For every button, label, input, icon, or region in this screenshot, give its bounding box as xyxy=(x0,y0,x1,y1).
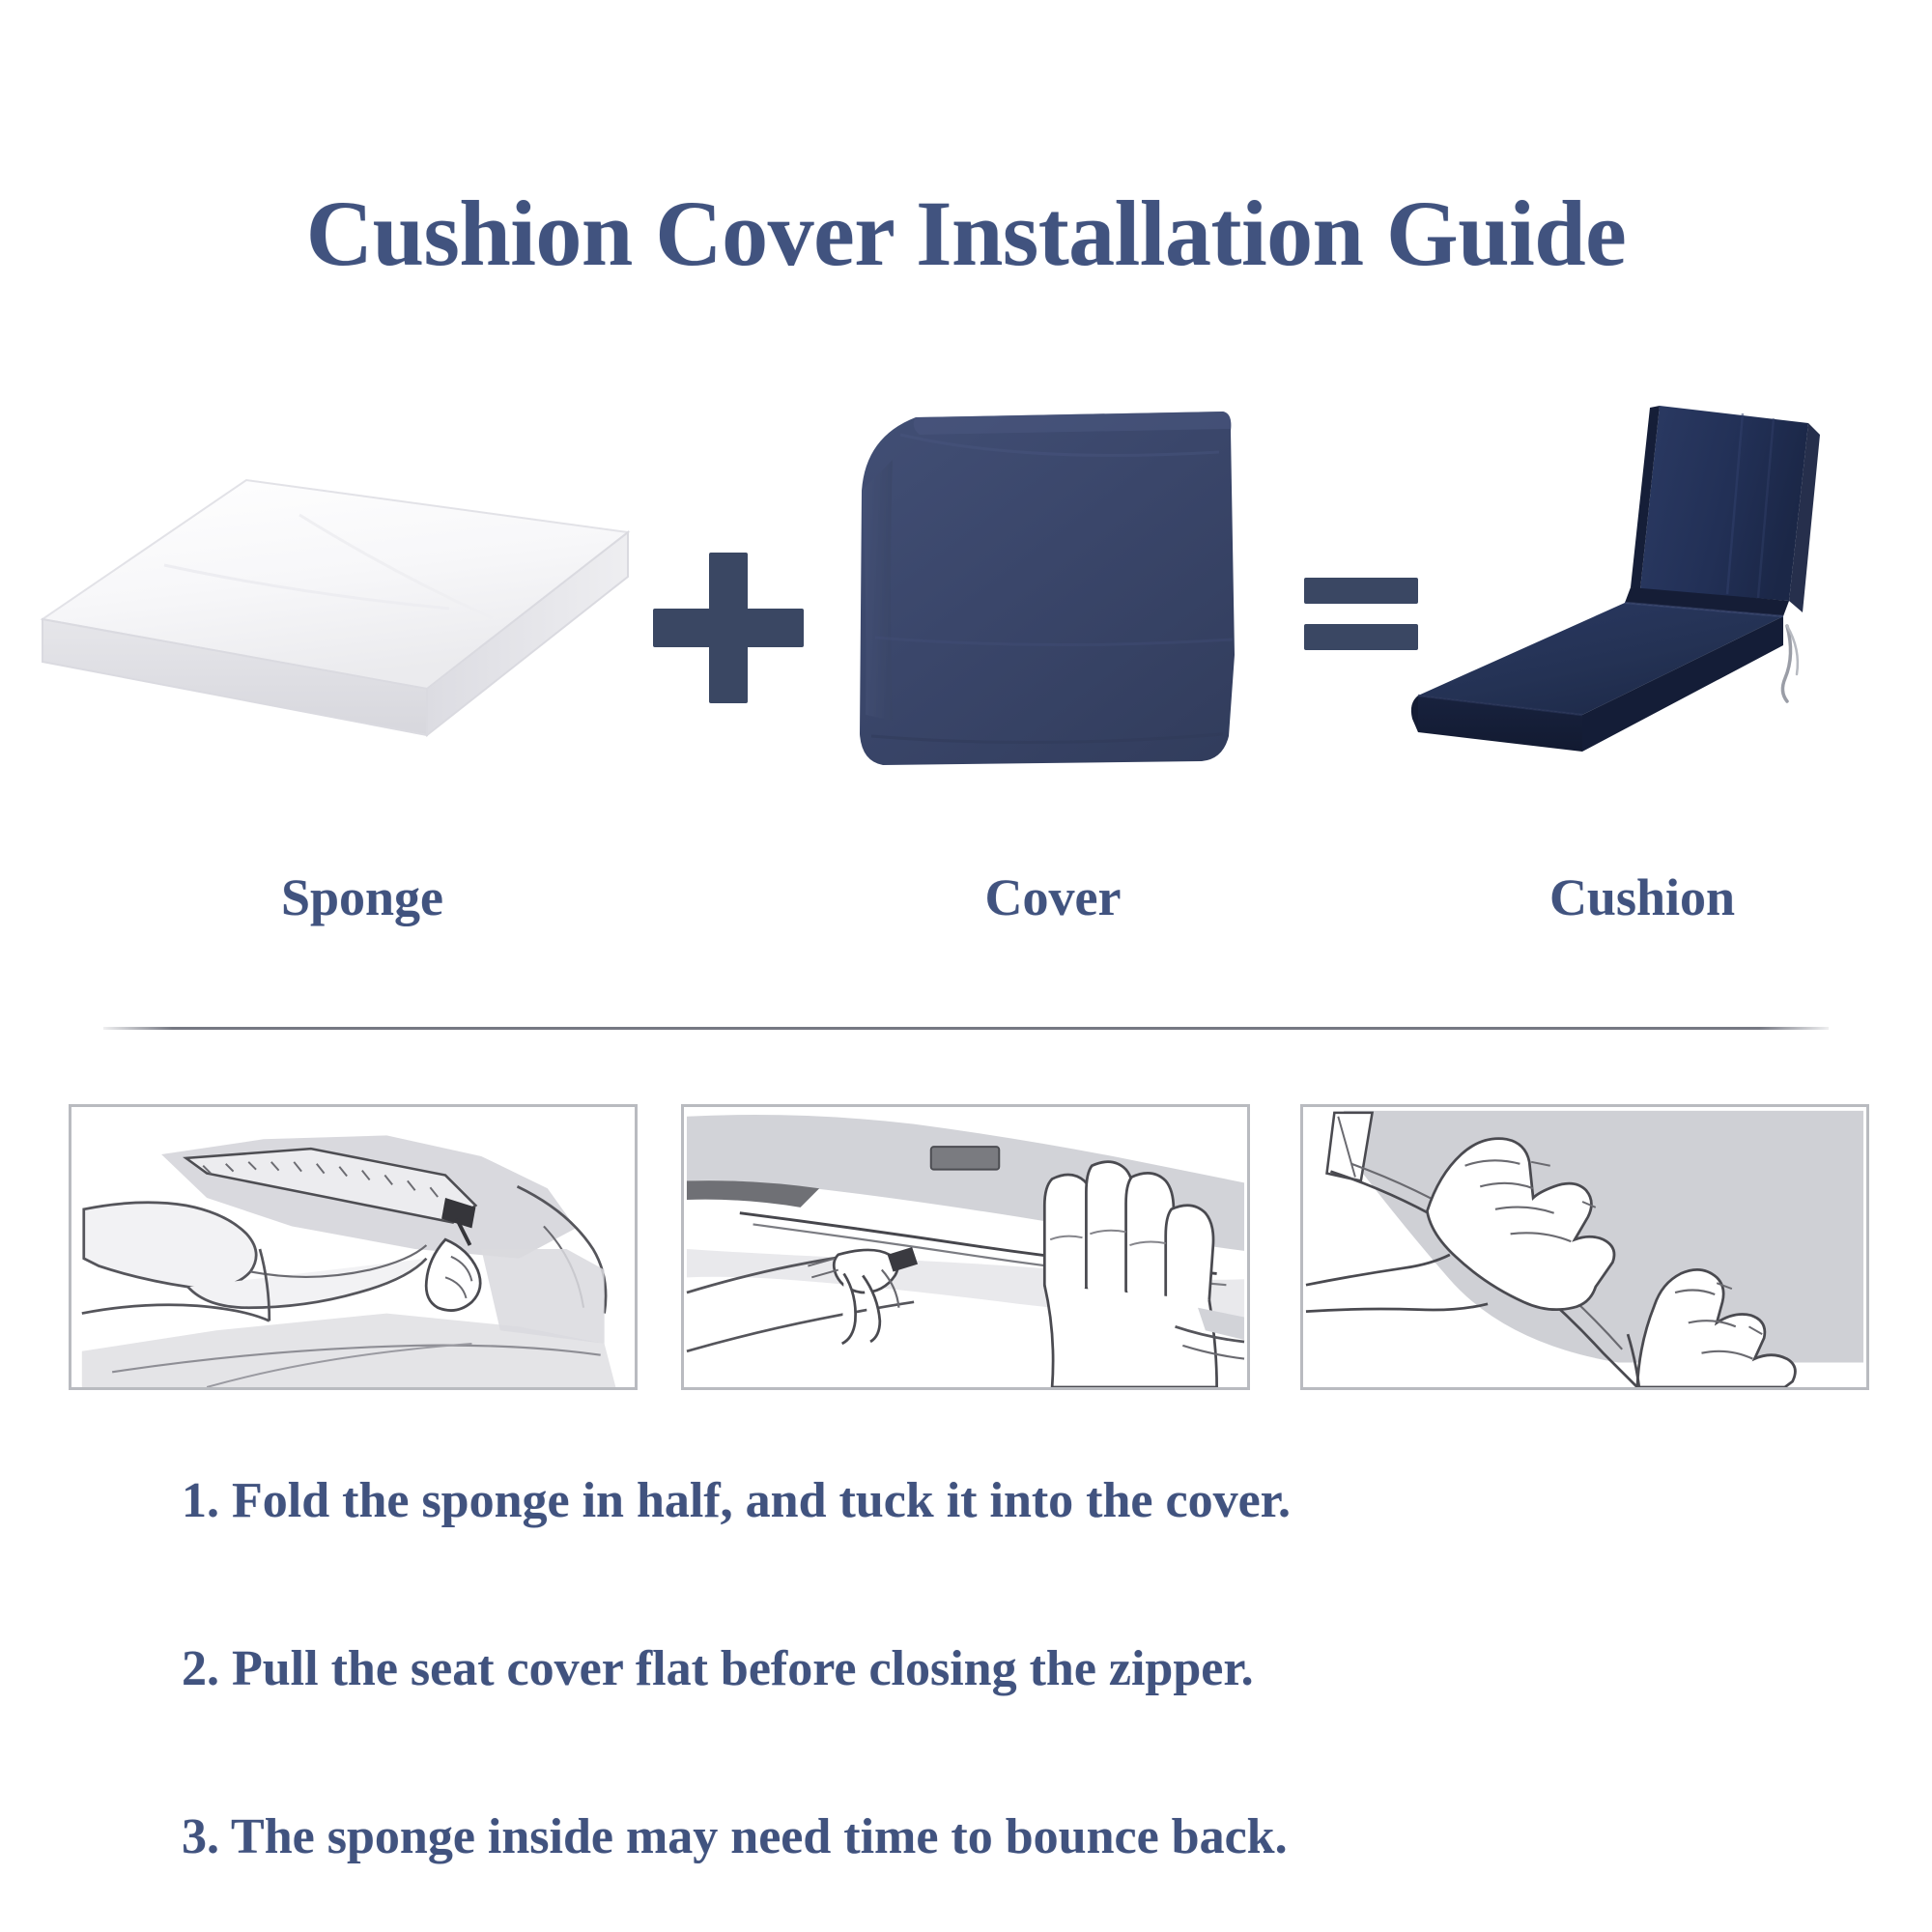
section-divider xyxy=(103,1027,1829,1030)
instruction-panel-2 xyxy=(681,1104,1250,1390)
plus-sign-icon xyxy=(653,553,804,703)
instruction-panel-1 xyxy=(69,1104,638,1390)
equation-row xyxy=(0,406,1932,811)
instruction-step-3: 3. The sponge inside may need time to bo… xyxy=(0,1812,1932,1862)
instruction-steps: 1. Fold the sponge in half, and tuck it … xyxy=(0,1461,1932,1862)
plus-vertical-bar xyxy=(709,553,748,703)
chaise-cushion-icon xyxy=(1383,396,1837,802)
page-title: Cushion Cover Installation Guide xyxy=(0,180,1932,287)
instruction-step-2: 2. Pull the seat cover flat before closi… xyxy=(0,1644,1932,1694)
instruction-panels xyxy=(0,1104,1932,1390)
folded-fabric-icon xyxy=(833,396,1258,802)
instruction-panel-3 xyxy=(1300,1104,1869,1390)
product-label-cushion: Cushion xyxy=(1425,867,1860,927)
foam-slab-icon xyxy=(10,430,638,787)
infographic-page: Cushion Cover Installation Guide xyxy=(0,0,1932,1932)
product-label-cover: Cover xyxy=(836,867,1270,927)
product-label-sponge: Sponge xyxy=(145,867,580,927)
instruction-step-1: 1. Fold the sponge in half, and tuck it … xyxy=(0,1476,1932,1526)
